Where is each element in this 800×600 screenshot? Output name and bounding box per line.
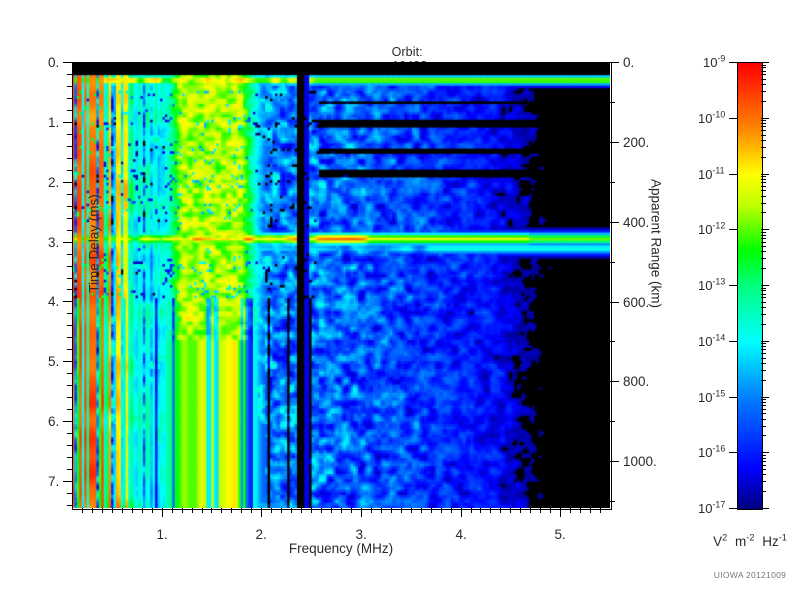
unit-v: V xyxy=(713,534,722,549)
colorbar-major-tick xyxy=(729,174,737,175)
x-minor-tick xyxy=(401,508,402,513)
unit-hz: Hz xyxy=(762,534,779,549)
unit-m: m xyxy=(735,534,746,549)
x-minor-tick xyxy=(172,508,173,513)
colorbar-minor-tick xyxy=(761,343,766,344)
colorbar-minor-tick xyxy=(761,399,766,400)
x-minor-tick xyxy=(231,508,232,513)
colorbar-minor-tick xyxy=(761,346,766,347)
colorbar-minor-tick xyxy=(761,405,766,406)
colorbar-tick-label-8: 10-17 xyxy=(698,501,725,516)
colorbar-minor-tick xyxy=(761,363,766,364)
colorbar-tick-label-6: 10-15 xyxy=(698,390,725,405)
colorbar-minor-tick xyxy=(761,126,766,127)
colorbar-minor-tick xyxy=(761,186,766,187)
colorbar-tick-label-0: 10-9 xyxy=(703,55,725,70)
y-minor-tick xyxy=(67,337,72,338)
x-minor-tick xyxy=(321,508,322,513)
y-major-tick xyxy=(63,421,72,422)
x-minor-tick xyxy=(411,508,412,513)
colorbar-minor-tick xyxy=(761,135,766,136)
y-minor-tick xyxy=(67,505,72,506)
y2-major-tick xyxy=(610,461,619,462)
colorbar-minor-tick xyxy=(761,358,766,359)
y-minor-tick xyxy=(67,218,72,219)
y2-major-tick xyxy=(610,381,619,382)
colorbar-minor-tick xyxy=(761,196,766,197)
y2-major-tick xyxy=(610,142,619,143)
colorbar xyxy=(737,62,763,510)
spectrogram-canvas xyxy=(72,62,610,508)
y-minor-tick xyxy=(67,134,72,135)
x-tick-label-0: 1. xyxy=(157,527,168,542)
credit-text: UIOWA 20121009 xyxy=(660,570,800,580)
colorbar-minor-tick xyxy=(761,190,766,191)
colorbar-minor-tick xyxy=(761,302,766,303)
y-major-tick xyxy=(63,242,72,243)
y2-minor-tick xyxy=(610,182,615,183)
colorbar-minor-tick xyxy=(761,101,766,102)
colorbar-minor-tick xyxy=(761,491,766,492)
colorbar-minor-tick xyxy=(761,123,766,124)
x-minor-tick xyxy=(500,508,501,513)
colorbar-minor-tick xyxy=(761,294,766,295)
colorbar-major-tick xyxy=(729,285,737,286)
colorbar-minor-tick xyxy=(761,465,766,466)
y-major-tick xyxy=(63,62,72,63)
y-minor-tick xyxy=(67,230,72,231)
y-minor-tick xyxy=(67,313,72,314)
colorbar-major-tick xyxy=(761,285,769,286)
colorbar-minor-tick xyxy=(761,409,766,410)
y-tick-label-2: 2. xyxy=(48,175,59,190)
x-minor-tick xyxy=(221,508,222,513)
x-minor-tick xyxy=(192,508,193,513)
y-major-tick xyxy=(63,301,72,302)
colorbar-minor-tick xyxy=(761,232,766,233)
x-axis-label: Frequency (MHz) xyxy=(72,541,610,556)
x-minor-tick xyxy=(92,508,93,513)
colorbar-minor-tick xyxy=(761,212,766,213)
colorbar-major-tick xyxy=(729,62,737,63)
x-minor-tick xyxy=(112,508,113,513)
y2-tick-label-2: 400. xyxy=(623,215,649,230)
y2-tick-label-3: 600. xyxy=(623,295,649,310)
colorbar-major-tick xyxy=(761,174,769,175)
y2-tick-label-1: 200. xyxy=(623,135,649,150)
colorbar-minor-tick xyxy=(761,349,766,350)
colorbar-minor-tick xyxy=(761,71,766,72)
colorbar-minor-tick xyxy=(761,238,766,239)
colorbar-minor-tick xyxy=(761,65,766,66)
x-minor-tick xyxy=(311,508,312,513)
y-tick-label-4: 4. xyxy=(48,294,59,309)
y-major-tick xyxy=(63,481,72,482)
x-tick-label-3: 4. xyxy=(456,527,467,542)
x-minor-tick xyxy=(251,508,252,513)
y-minor-tick xyxy=(67,170,72,171)
x-major-tick xyxy=(361,508,362,517)
colorbar-minor-tick xyxy=(761,176,766,177)
x-minor-tick xyxy=(132,508,133,513)
x-minor-tick xyxy=(202,508,203,513)
colorbar-units-label: V2 m-2 Hz-1 xyxy=(660,534,800,549)
x-minor-tick xyxy=(421,508,422,513)
unit-m-exp: -2 xyxy=(746,533,754,543)
colorbar-tick-label-4: 10-13 xyxy=(698,278,725,293)
colorbar-minor-tick xyxy=(761,79,766,80)
colorbar-minor-tick xyxy=(761,84,766,85)
y-minor-tick xyxy=(67,254,72,255)
x-minor-tick xyxy=(520,508,521,513)
y2-minor-tick xyxy=(610,501,615,502)
x-minor-tick xyxy=(480,508,481,513)
colorbar-tick-label-7: 10-16 xyxy=(698,445,725,460)
y-minor-tick xyxy=(67,74,72,75)
x-minor-tick xyxy=(441,508,442,513)
colorbar-minor-tick xyxy=(761,370,766,371)
colorbar-major-tick xyxy=(761,229,769,230)
colorbar-minor-tick xyxy=(761,251,766,252)
y-minor-tick xyxy=(67,493,72,494)
y-major-tick xyxy=(63,122,72,123)
x-minor-tick xyxy=(451,508,452,513)
colorbar-minor-tick xyxy=(761,203,766,204)
y2-tick-label-0: 0. xyxy=(623,55,634,70)
x-minor-tick xyxy=(510,508,511,513)
colorbar-minor-tick xyxy=(761,307,766,308)
y2-minor-tick xyxy=(610,102,615,103)
colorbar-major-tick xyxy=(729,341,737,342)
colorbar-major-tick xyxy=(761,62,769,63)
x-tick-label-2: 3. xyxy=(356,527,367,542)
y-minor-tick xyxy=(67,289,72,290)
x-minor-tick xyxy=(590,508,591,513)
x-major-tick xyxy=(560,508,561,517)
colorbar-major-tick xyxy=(729,229,737,230)
x-minor-tick xyxy=(550,508,551,513)
colorbar-minor-tick xyxy=(761,469,766,470)
y-minor-tick xyxy=(67,86,72,87)
y-minor-tick xyxy=(67,278,72,279)
colorbar-major-tick xyxy=(761,118,769,119)
y-minor-tick xyxy=(67,110,72,111)
colorbar-tick-label-1: 10-10 xyxy=(698,111,725,126)
x-major-tick xyxy=(261,508,262,517)
y-major-tick xyxy=(63,182,72,183)
y-tick-label-3: 3. xyxy=(48,235,59,250)
x-minor-tick xyxy=(102,508,103,513)
y-minor-tick xyxy=(67,158,72,159)
colorbar-minor-tick xyxy=(761,380,766,381)
colorbar-minor-tick xyxy=(761,140,766,141)
y-minor-tick xyxy=(67,373,72,374)
ionogram-spectrogram xyxy=(72,62,610,508)
x-minor-tick xyxy=(241,508,242,513)
x-minor-tick xyxy=(391,508,392,513)
y2-major-tick xyxy=(610,62,619,63)
colorbar-minor-tick xyxy=(761,324,766,325)
colorbar-major-tick xyxy=(761,452,769,453)
x-tick-label-4: 5. xyxy=(555,527,566,542)
colorbar-minor-tick xyxy=(761,268,766,269)
colorbar-minor-tick xyxy=(761,74,766,75)
x-major-tick xyxy=(162,508,163,517)
y-minor-tick xyxy=(67,206,72,207)
colorbar-major-tick xyxy=(761,508,769,509)
y-minor-tick xyxy=(67,349,72,350)
colorbar-major-tick xyxy=(729,118,737,119)
y-minor-tick xyxy=(67,397,72,398)
y-minor-tick xyxy=(67,457,72,458)
x-minor-tick xyxy=(351,508,352,513)
y-minor-tick xyxy=(67,385,72,386)
colorbar-tick-label-5: 10-14 xyxy=(698,334,725,349)
x-minor-tick xyxy=(381,508,382,513)
colorbar-tick-label-3: 10-12 xyxy=(698,222,725,237)
y-tick-label-5: 5. xyxy=(48,354,59,369)
y-minor-tick xyxy=(67,469,72,470)
y-minor-tick xyxy=(67,266,72,267)
y-tick-label-0: 0. xyxy=(48,55,59,70)
colorbar-minor-tick xyxy=(761,290,766,291)
colorbar-major-tick xyxy=(729,452,737,453)
y-minor-tick xyxy=(67,325,72,326)
y-tick-label-6: 6. xyxy=(48,414,59,429)
colorbar-major-tick xyxy=(761,397,769,398)
x-minor-tick xyxy=(211,508,212,513)
y2-major-tick xyxy=(610,222,619,223)
colorbar-minor-tick xyxy=(761,258,766,259)
colorbar-minor-tick xyxy=(761,130,766,131)
colorbar-minor-tick xyxy=(761,120,766,121)
x-minor-tick xyxy=(271,508,272,513)
x-minor-tick xyxy=(600,508,601,513)
y2-minor-tick xyxy=(610,341,615,342)
colorbar-minor-tick xyxy=(761,435,766,436)
colorbar-minor-tick xyxy=(761,182,766,183)
y-minor-tick xyxy=(67,445,72,446)
x-minor-tick xyxy=(530,508,531,513)
x-major-tick xyxy=(461,508,462,517)
colorbar-minor-tick xyxy=(761,353,766,354)
colorbar-minor-tick xyxy=(761,157,766,158)
unit-v-exp: 2 xyxy=(722,533,727,543)
y2-minor-tick xyxy=(610,421,615,422)
x-minor-tick xyxy=(152,508,153,513)
colorbar-minor-tick xyxy=(761,91,766,92)
x-minor-tick xyxy=(341,508,342,513)
colorbar-minor-tick xyxy=(761,455,766,456)
y2-axis-label: Apparent Range (km) xyxy=(649,144,664,344)
y2-major-tick xyxy=(610,302,619,303)
x-minor-tick xyxy=(82,508,83,513)
colorbar-minor-tick xyxy=(761,147,766,148)
colorbar-minor-tick xyxy=(761,288,766,289)
x-minor-tick xyxy=(490,508,491,513)
colorbar-minor-tick xyxy=(761,402,766,403)
y-tick-label-7: 7. xyxy=(48,474,59,489)
colorbar-major-tick xyxy=(729,397,737,398)
y2-tick-label-5: 1000. xyxy=(623,454,657,469)
x-minor-tick xyxy=(122,508,123,513)
colorbar-minor-tick xyxy=(761,413,766,414)
colorbar-minor-tick xyxy=(761,458,766,459)
y-minor-tick xyxy=(67,409,72,410)
colorbar-minor-tick xyxy=(761,67,766,68)
colorbar-major-tick xyxy=(729,508,737,509)
x-minor-tick xyxy=(301,508,302,513)
x-minor-tick xyxy=(431,508,432,513)
x-minor-tick xyxy=(291,508,292,513)
y-major-tick xyxy=(63,361,72,362)
colorbar-major-tick xyxy=(761,341,769,342)
colorbar-minor-tick xyxy=(761,461,766,462)
x-minor-tick xyxy=(281,508,282,513)
x-minor-tick xyxy=(570,508,571,513)
y-minor-tick xyxy=(67,98,72,99)
colorbar-minor-tick xyxy=(761,481,766,482)
x-minor-tick xyxy=(540,508,541,513)
y2-tick-label-4: 800. xyxy=(623,374,649,389)
y-tick-label-1: 1. xyxy=(48,115,59,130)
unit-hz-exp: -1 xyxy=(779,533,787,543)
x-minor-tick xyxy=(182,508,183,513)
colorbar-minor-tick xyxy=(761,246,766,247)
x-minor-tick xyxy=(371,508,372,513)
colorbar-minor-tick xyxy=(761,242,766,243)
x-tick-label-1: 2. xyxy=(256,527,267,542)
colorbar-minor-tick xyxy=(761,474,766,475)
colorbar-tick-label-2: 10-11 xyxy=(698,167,725,182)
header-orbit-label: Orbit: xyxy=(392,45,423,59)
y2-minor-tick xyxy=(610,262,615,263)
x-minor-tick xyxy=(331,508,332,513)
x-minor-tick xyxy=(142,508,143,513)
x-minor-tick xyxy=(580,508,581,513)
colorbar-minor-tick xyxy=(761,235,766,236)
colorbar-minor-tick xyxy=(761,314,766,315)
colorbar-minor-tick xyxy=(761,426,766,427)
y-minor-tick xyxy=(67,146,72,147)
y-minor-tick xyxy=(67,433,72,434)
colorbar-minor-tick xyxy=(761,419,766,420)
y-axis-label: Time Delay (ms) xyxy=(87,144,102,344)
y-minor-tick xyxy=(67,194,72,195)
colorbar-minor-tick xyxy=(761,179,766,180)
colorbar-minor-tick xyxy=(761,297,766,298)
x-minor-tick xyxy=(471,508,472,513)
colorbar-gradient xyxy=(738,63,762,509)
